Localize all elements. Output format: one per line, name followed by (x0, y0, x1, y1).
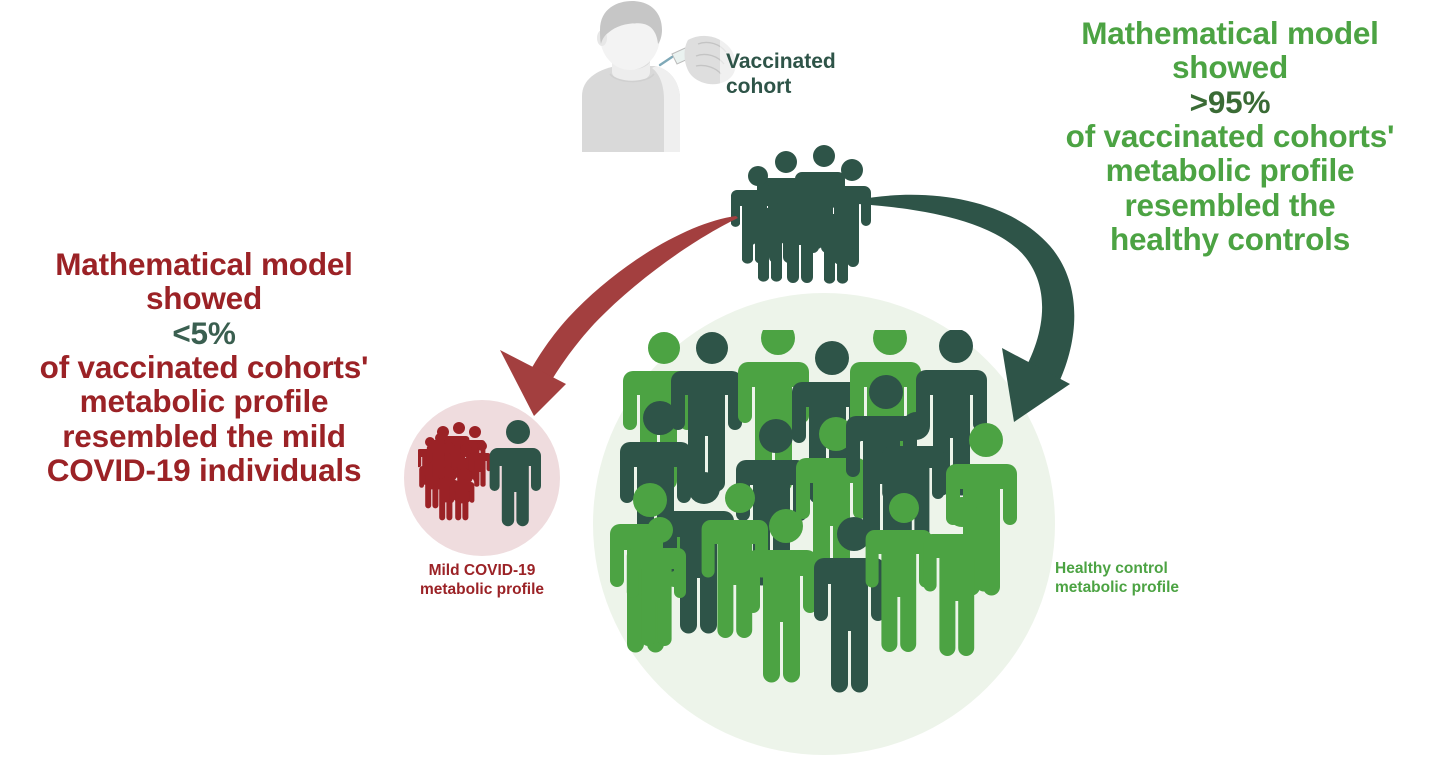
callout-left-line5: resembled the mild (0, 419, 414, 453)
healthy-control-profile-label: Healthy control metabolic profile (1055, 560, 1275, 598)
callout-left-line2: showed (0, 281, 414, 315)
mild-covid-profile-label: Mild COVID-19 metabolic profile (372, 562, 592, 600)
vaccinated-cohort-people-cluster (726, 138, 876, 290)
callout-left-line4: metabolic profile (0, 384, 414, 418)
vaccinated-label-line1: Vaccinated (726, 50, 896, 75)
person-receiving-vaccine-illustration (560, 0, 740, 152)
mild-label-line1: Mild COVID-19 (372, 562, 592, 581)
callout-right-line4: metabolic profile (1020, 153, 1440, 187)
healthy-label-line1: Healthy control (1055, 560, 1275, 579)
vaccinated-cohort-label: Vaccinated cohort (726, 50, 896, 100)
callout-left-percent: <5% (0, 316, 414, 350)
callout-right-percent: >95% (1020, 85, 1440, 119)
callout-right-line2: showed (1020, 50, 1440, 84)
callout-right-line3: of vaccinated cohorts' (1020, 119, 1440, 153)
healthy-control-people-crowd (608, 330, 1040, 730)
mild-covid-people-group (418, 418, 548, 536)
vaccinated-label-line2: cohort (726, 75, 896, 100)
callout-left-line6: COVID-19 individuals (0, 453, 414, 487)
callout-right-line1: Mathematical model (1020, 16, 1440, 50)
callout-left-line1: Mathematical model (0, 247, 414, 281)
callout-right-line6: healthy controls (1020, 222, 1440, 256)
infographic-canvas: Vaccinated cohort Mathematical model sho… (0, 0, 1442, 766)
callout-healthy-control: Mathematical model showed >95% of vaccin… (1020, 16, 1440, 256)
healthy-label-line2: metabolic profile (1055, 579, 1275, 598)
callout-right-line5: resembled the (1020, 188, 1440, 222)
healthy-person-icon (490, 420, 541, 526)
callout-left-line3: of vaccinated cohorts' (0, 350, 414, 384)
callout-mild-covid: Mathematical model showed <5% of vaccina… (0, 247, 414, 487)
mild-label-line2: metabolic profile (372, 581, 592, 600)
mild-covid-red-people (418, 422, 491, 520)
